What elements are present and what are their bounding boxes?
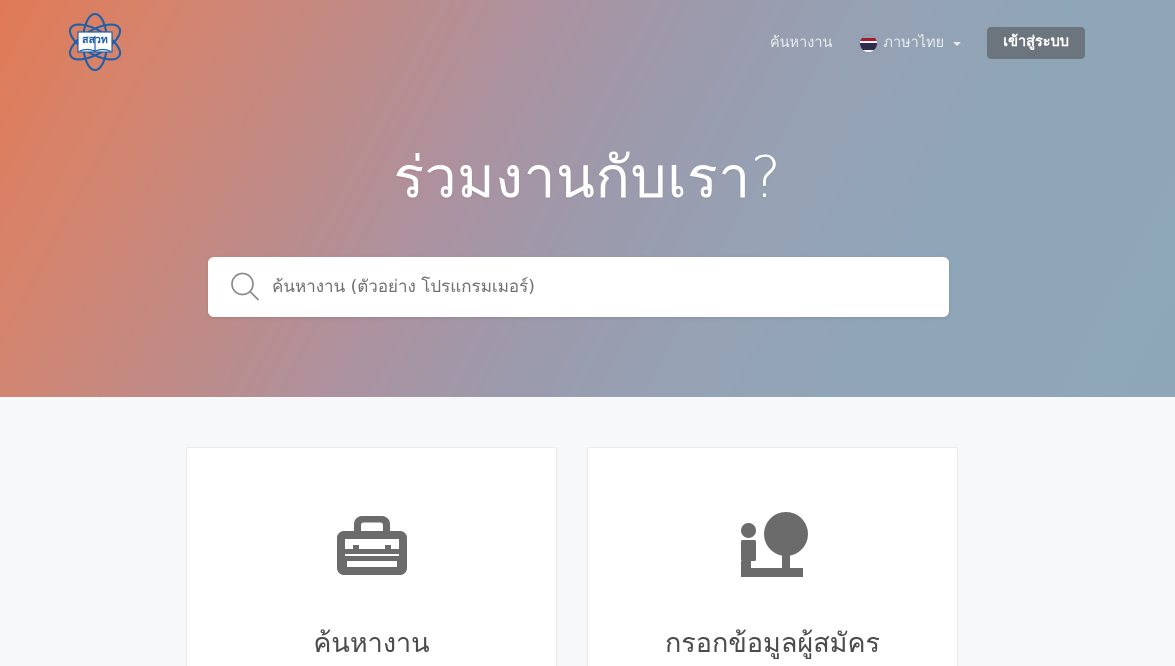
card-applicant-form[interactable]: กรอกข้อมูลผู้สมัคร xyxy=(587,447,958,666)
search-input[interactable] xyxy=(268,257,949,317)
quick-actions-section: ค้นหางาน กรอกข้อมูลผู้สมัคร xyxy=(0,397,1175,666)
nav-right-group: ค้นหางาน ภาษาไทย xyxy=(756,27,1085,59)
card-label: กรอกข้อมูลผู้สมัคร xyxy=(665,628,880,660)
search-icon xyxy=(222,270,268,304)
card-label: ค้นหางาน xyxy=(313,628,429,660)
logo-text: สสวท xyxy=(82,34,108,46)
nav-link-find-jobs[interactable]: ค้นหางาน xyxy=(756,27,846,59)
language-selector[interactable]: ภาษาไทย xyxy=(846,27,975,59)
person-tree-icon xyxy=(728,506,818,582)
site-logo[interactable]: สสวท xyxy=(62,9,128,75)
thailand-flag-icon xyxy=(860,35,877,52)
page-title: ร่วมงานกับเรา? xyxy=(0,146,1175,212)
chevron-down-icon xyxy=(953,42,961,46)
search-bar[interactable] xyxy=(208,257,949,317)
page-root: สสวท ค้นหางาน xyxy=(0,0,1175,666)
login-button[interactable]: เข้าสู่ระบบ xyxy=(987,27,1085,59)
top-navigation-bar: สสวท ค้นหางาน xyxy=(0,0,1175,84)
quick-actions-row: ค้นหางาน กรอกข้อมูลผู้สมัคร xyxy=(186,447,958,666)
card-find-jobs[interactable]: ค้นหางาน xyxy=(186,447,557,666)
briefcase-icon xyxy=(334,506,410,582)
language-label: ภาษาไทย xyxy=(883,27,944,59)
hero-banner: สสวท ค้นหางาน xyxy=(0,0,1175,397)
atom-logo-icon: สสวท xyxy=(62,9,128,75)
